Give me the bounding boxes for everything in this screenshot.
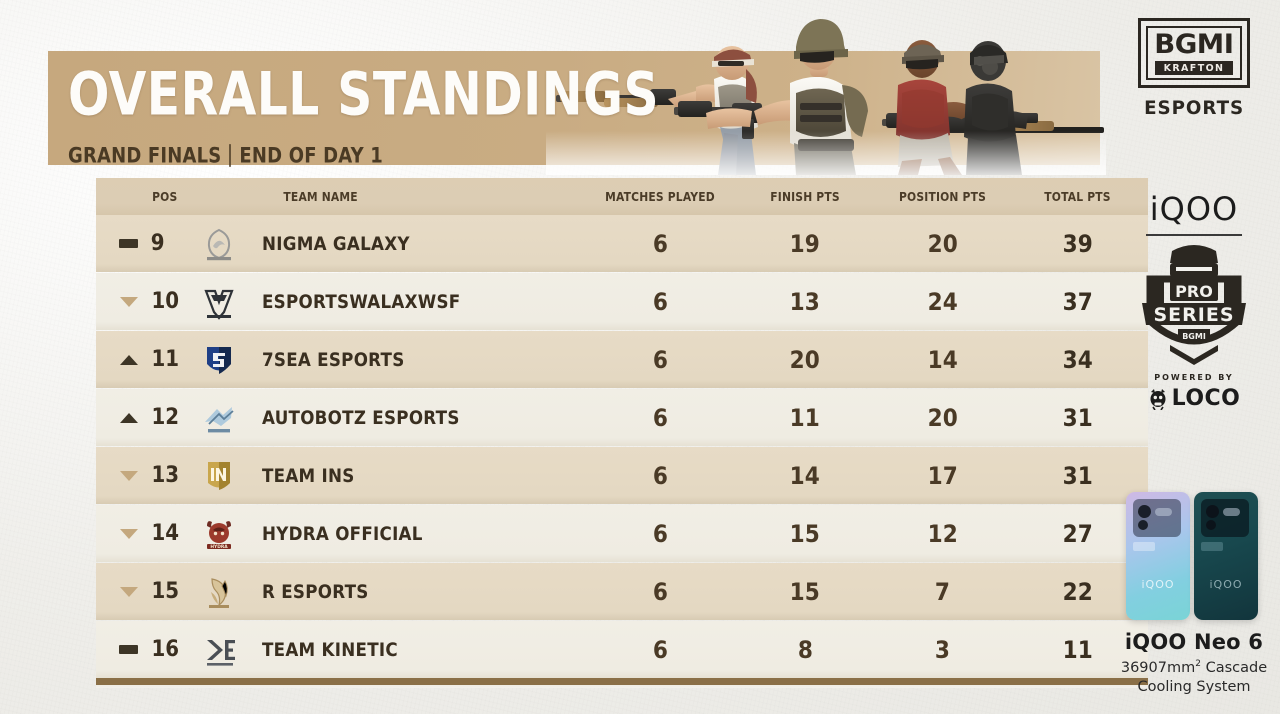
- position-pts-cell: 24: [870, 288, 1015, 316]
- finish-pts-value: 13: [790, 288, 820, 316]
- camera-module-left: [1133, 499, 1181, 537]
- tagline-line-2: Cooling System: [1138, 679, 1251, 695]
- camera-label-strip-right: [1201, 542, 1223, 551]
- finish-pts-value: 14: [790, 462, 820, 490]
- position-cell: 12: [142, 405, 188, 430]
- table-bottom-shadow: [96, 685, 1148, 688]
- position-cell: 9: [142, 231, 188, 256]
- trend-down-icon: [120, 471, 138, 481]
- 7sea-esports-logo: [199, 340, 239, 380]
- trend-cell: [96, 413, 142, 423]
- team-name-label: HYDRA OFFICIAL: [262, 523, 423, 545]
- phone-product-title: iQOO Neo 6: [1125, 630, 1263, 654]
- total-pts-value: 22: [1062, 578, 1092, 606]
- total-pts-value: 39: [1062, 230, 1092, 258]
- finish-pts-value: 15: [790, 578, 820, 606]
- header-position-pts: POSITION PTS: [880, 189, 1005, 204]
- matches-played-value: 6: [652, 578, 667, 606]
- team-logo-cell: [188, 630, 250, 670]
- svg-text:BGMI: BGMI: [1182, 332, 1206, 341]
- camera-lens-secondary: [1138, 520, 1148, 530]
- camera-label-strip-left: [1133, 542, 1155, 551]
- total-pts-value: 27: [1062, 520, 1092, 548]
- team-logo-cell: HYDRA: [188, 514, 250, 554]
- camera-flash-strip: [1155, 508, 1172, 516]
- team-logo-cell: [188, 572, 250, 612]
- position-cell: 16: [142, 637, 188, 662]
- phone-right-variant: iQOO: [1194, 492, 1258, 620]
- header-finish-pts: FINISH PTS: [749, 189, 861, 204]
- table-row[interactable]: 14HYDRAHYDRA OFFICIAL6151227: [96, 505, 1148, 562]
- matches-played-value: 6: [652, 404, 667, 432]
- matches-played-value: 6: [652, 346, 667, 374]
- trend-cell: [96, 297, 142, 307]
- tagline-area-suffix: Cascade: [1201, 660, 1267, 676]
- team-logo-cell: [188, 224, 250, 264]
- krafton-label: KRAFTON: [1155, 61, 1233, 75]
- matches-played-value: 6: [652, 636, 667, 664]
- camera-lens-primary-right: [1206, 505, 1219, 518]
- powered-by-loco: POWERED BY LOCO: [1108, 373, 1280, 411]
- team-name-cell: ESPORTSWALAXWSF: [250, 291, 580, 313]
- finish-pts-cell: 15: [740, 520, 870, 548]
- phone-brand-left: iQOO: [1126, 578, 1190, 591]
- bgmi-logo-outer-frame: BGMI KRAFTON: [1138, 18, 1250, 88]
- matches-played-cell: 6: [580, 404, 740, 432]
- trend-down-icon: [120, 297, 138, 307]
- team-name-cell: HYDRA OFFICIAL: [250, 523, 580, 545]
- trend-up-icon: [120, 355, 138, 365]
- matches-played-cell: 6: [580, 230, 740, 258]
- team-name-label: TEAM INS: [262, 465, 355, 487]
- standings-panel: OVERALL STANDINGS GRAND FINALS END OF DA…: [48, 0, 1100, 165]
- finish-pts-value: 8: [797, 636, 812, 664]
- matches-played-cell: 6: [580, 636, 740, 664]
- camera-module-right: [1201, 499, 1249, 537]
- team-logo-cell: [188, 398, 250, 438]
- team-name-cell: NIGMA GALAXY: [250, 233, 580, 255]
- table-row[interactable]: 9NIGMA GALAXY6192039: [96, 215, 1148, 272]
- position-pts-value: 12: [927, 520, 957, 548]
- team-name-cell: R ESPORTS: [250, 581, 580, 603]
- pro-series-logo: PRO SERIES BGMI: [1108, 237, 1280, 365]
- position-cell: 10: [142, 289, 188, 314]
- phone-left-variant: iQOO: [1126, 492, 1190, 620]
- loco-logo-row: LOCO: [1148, 386, 1241, 411]
- subtitle-day: END OF DAY 1: [239, 142, 383, 168]
- header-team-name: TEAM NAME: [273, 189, 557, 204]
- finish-pts-value: 19: [790, 230, 820, 258]
- finish-pts-cell: 15: [740, 578, 870, 606]
- svg-text:HYDRA: HYDRA: [210, 544, 228, 550]
- position-pts-value: 20: [927, 404, 957, 432]
- trend-cell: [96, 645, 142, 654]
- bgmi-wordmark: BGMI: [1154, 32, 1233, 58]
- team-name-cell: TEAM KINETIC: [250, 639, 580, 661]
- finish-pts-value: 11: [790, 404, 820, 432]
- position-pts-value: 14: [927, 346, 957, 374]
- nigma-galaxy-logo: [199, 224, 239, 264]
- position-cell: 14: [142, 521, 188, 546]
- matches-played-cell: 6: [580, 520, 740, 548]
- matches-played-value: 6: [652, 462, 667, 490]
- position-pts-value: 24: [927, 288, 957, 316]
- total-pts-value: 37: [1062, 288, 1092, 316]
- position-number: 11: [152, 347, 180, 372]
- matches-played-cell: 6: [580, 578, 740, 606]
- trend-flat-icon: [119, 645, 138, 654]
- position-cell: 15: [142, 579, 188, 604]
- matches-played-cell: 6: [580, 288, 740, 316]
- team-name-cell: 7SEA ESPORTS: [250, 349, 580, 371]
- bgmi-esports-label: ESPORTS: [1144, 97, 1244, 119]
- r-esports-logo: [199, 572, 239, 612]
- trend-cell: [96, 529, 142, 539]
- camera-lens-secondary-right: [1206, 520, 1216, 530]
- pro-series-crest-icon: PRO SERIES BGMI: [1130, 237, 1258, 365]
- team-name-label: R ESPORTS: [262, 581, 369, 603]
- trend-down-icon: [120, 587, 138, 597]
- banner-text-group: OVERALL STANDINGS GRAND FINALS END OF DA…: [68, 65, 711, 166]
- team-logo-cell: [188, 456, 250, 496]
- standings-table: POS TEAM NAME MATCHES PLAYED FINISH PTS …: [96, 178, 1148, 688]
- page-title: OVERALL STANDINGS: [68, 65, 659, 124]
- table-bottom-bar: [96, 678, 1148, 685]
- esportswala-logo: [199, 282, 239, 322]
- phone-product-image: iQOO iQOO: [1126, 492, 1262, 620]
- powered-by-label: POWERED BY: [1154, 373, 1233, 382]
- position-number: 12: [152, 405, 180, 430]
- matches-played-value: 6: [652, 520, 667, 548]
- svg-text:SERIES: SERIES: [1153, 304, 1234, 326]
- table-row[interactable]: 15R ESPORTS615722: [96, 563, 1148, 620]
- position-pts-cell: 20: [870, 230, 1015, 258]
- position-number: 14: [152, 521, 180, 546]
- team-logo-cell: [188, 340, 250, 380]
- team-kinetic-logo: [199, 630, 239, 670]
- position-pts-cell: 12: [870, 520, 1015, 548]
- position-pts-cell: 17: [870, 462, 1015, 490]
- finish-pts-cell: 13: [740, 288, 870, 316]
- banner-subtitle: GRAND FINALS END OF DAY 1: [68, 142, 646, 168]
- bgmi-esports-logo: BGMI KRAFTON ESPORTS: [1108, 18, 1280, 119]
- finish-pts-cell: 20: [740, 346, 870, 374]
- camera-lens-primary: [1138, 505, 1151, 518]
- header-pos: POS: [145, 189, 185, 204]
- position-cell: 13: [142, 463, 188, 488]
- team-name-label: NIGMA GALAXY: [262, 233, 410, 255]
- team-name-cell: AUTOBOTZ ESPORTS: [250, 407, 580, 429]
- tagline-area-value: 36907mm: [1121, 660, 1195, 676]
- matches-played-cell: 6: [580, 462, 740, 490]
- team-name-cell: TEAM INS: [250, 465, 580, 487]
- position-number: 16: [152, 637, 180, 662]
- table-row[interactable]: 10ESPORTSWALAXWSF6132437: [96, 273, 1148, 330]
- sponsor-sidebar: BGMI KRAFTON ESPORTS iQOO: [1108, 0, 1280, 714]
- hydra-official-logo: HYDRA: [199, 514, 239, 554]
- position-number: 10: [152, 289, 180, 314]
- position-pts-value: 7: [935, 578, 950, 606]
- position-number: 15: [152, 579, 180, 604]
- matches-played-cell: 6: [580, 346, 740, 374]
- iqoo-divider-rule: [1146, 234, 1242, 236]
- position-number: 13: [152, 463, 180, 488]
- iqoo-neo6-promo: iQOO iQOO iQOO Neo 6 36907mm2 Cascade Co…: [1108, 492, 1280, 698]
- position-pts-value: 20: [927, 230, 957, 258]
- position-pts-cell: 20: [870, 404, 1015, 432]
- loco-mascot-icon: [1148, 388, 1168, 410]
- trend-cell: [96, 239, 142, 248]
- trend-cell: [96, 355, 142, 365]
- total-pts-value: 31: [1062, 462, 1092, 490]
- matches-played-value: 6: [652, 230, 667, 258]
- table-row[interactable]: 117SEA ESPORTS6201434: [96, 331, 1148, 388]
- total-pts-value: 11: [1062, 636, 1092, 664]
- table-row[interactable]: 12AUTOBOTZ ESPORTS6112031: [96, 389, 1148, 446]
- trend-cell: [96, 471, 142, 481]
- position-pts-value: 17: [927, 462, 957, 490]
- total-pts-value: 34: [1062, 346, 1092, 374]
- trend-cell: [96, 587, 142, 597]
- team-name-label: TEAM KINETIC: [262, 639, 398, 661]
- table-body: 9NIGMA GALAXY619203910ESPORTSWALAXWSF613…: [96, 215, 1148, 678]
- total-pts-value: 31: [1062, 404, 1092, 432]
- phone-product-tagline: 36907mm2 Cascade Cooling System: [1121, 658, 1267, 698]
- finish-pts-cell: 8: [740, 636, 870, 664]
- camera-flash-strip-right: [1223, 508, 1240, 516]
- team-name-label: ESPORTSWALAXWSF: [262, 291, 460, 313]
- table-header-row: POS TEAM NAME MATCHES PLAYED FINISH PTS …: [96, 178, 1148, 215]
- trend-down-icon: [120, 529, 138, 539]
- matches-played-value: 6: [652, 288, 667, 316]
- finish-pts-cell: 11: [740, 404, 870, 432]
- position-number: 9: [151, 231, 165, 256]
- trend-flat-icon: [119, 239, 138, 248]
- finish-pts-value: 15: [790, 520, 820, 548]
- phone-brand-right: iQOO: [1194, 578, 1258, 591]
- subtitle-divider: [230, 144, 232, 167]
- loco-wordmark: LOCO: [1172, 386, 1241, 411]
- team-name-label: AUTOBOTZ ESPORTS: [262, 407, 460, 429]
- position-cell: 11: [142, 347, 188, 372]
- team-logo-cell: [188, 282, 250, 322]
- position-pts-cell: 14: [870, 346, 1015, 374]
- finish-pts-cell: 19: [740, 230, 870, 258]
- title-banner: OVERALL STANDINGS GRAND FINALS END OF DA…: [48, 51, 1100, 165]
- team-name-label: 7SEA ESPORTS: [262, 349, 405, 371]
- iqoo-wordmark: iQOO: [1150, 190, 1238, 228]
- autobotz-logo: [199, 398, 239, 438]
- bgmi-logo-inner-frame: BGMI KRAFTON: [1146, 26, 1242, 80]
- svg-text:PRO: PRO: [1175, 282, 1213, 301]
- broadcast-overlay: OVERALL STANDINGS GRAND FINALS END OF DA…: [0, 0, 1280, 714]
- team-ins-logo: [199, 456, 239, 496]
- position-pts-value: 3: [935, 636, 950, 664]
- trend-up-icon: [120, 413, 138, 423]
- position-pts-cell: 7: [870, 578, 1015, 606]
- header-matches-played: MATCHES PLAYED: [591, 189, 729, 204]
- table-row[interactable]: 16TEAM KINETIC68311: [96, 621, 1148, 678]
- position-pts-cell: 3: [870, 636, 1015, 664]
- subtitle-stage: GRAND FINALS: [68, 142, 221, 168]
- finish-pts-cell: 14: [740, 462, 870, 490]
- table-row[interactable]: 13TEAM INS6141731: [96, 447, 1148, 504]
- finish-pts-value: 20: [790, 346, 820, 374]
- iqoo-brand-logo: iQOO: [1108, 190, 1280, 236]
